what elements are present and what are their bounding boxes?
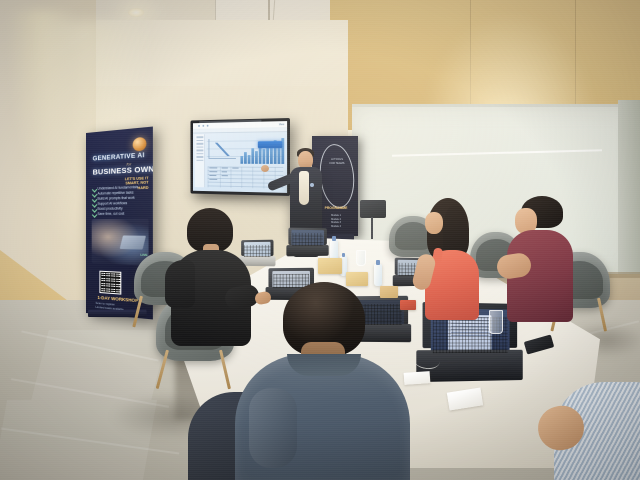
whiteboard-marker-streak	[392, 149, 602, 156]
attendee-shoulder	[165, 260, 195, 308]
screen-corner-label: View	[279, 123, 284, 126]
meeting-room-photo: GENERATIVE AI for BUSINESS OWNERS LET'S …	[0, 0, 640, 480]
snack-box	[318, 258, 342, 274]
attendee-coral	[413, 198, 485, 320]
attendee-bottom-right	[530, 372, 640, 480]
attendee-face	[425, 212, 443, 234]
qr-code-icon	[99, 271, 121, 295]
wall-right-edge	[618, 100, 640, 300]
laptop-dark-centre	[288, 228, 326, 257]
banner-bullet: Save time, cut cost	[93, 211, 148, 217]
downlight-icon	[128, 8, 144, 17]
banner-title-line2: BUSINESS OWNERS	[93, 164, 153, 176]
attendee-maroon	[497, 196, 581, 322]
banner-title-line1: GENERATIVE AI	[93, 153, 145, 163]
attendee-collar	[287, 354, 361, 376]
app-ribbon	[193, 127, 287, 133]
attendee-foreground	[235, 282, 410, 480]
presenter-lapel-badge	[310, 183, 314, 187]
whiteboard-frame	[352, 104, 640, 107]
attendee-shirt-fold	[249, 388, 297, 468]
presenter-hand	[261, 165, 269, 172]
chart-trendline	[209, 139, 236, 159]
app-side-pane	[195, 134, 205, 187]
presenter-shirt	[299, 171, 309, 205]
carpet-tile	[31, 330, 168, 400]
drinking-glass	[356, 250, 366, 266]
speaker	[360, 200, 386, 218]
banner-bullet-list: Understand AI fundamentals Automate repe…	[93, 185, 148, 217]
planet-icon	[133, 137, 147, 152]
speaker-stand	[371, 217, 373, 239]
